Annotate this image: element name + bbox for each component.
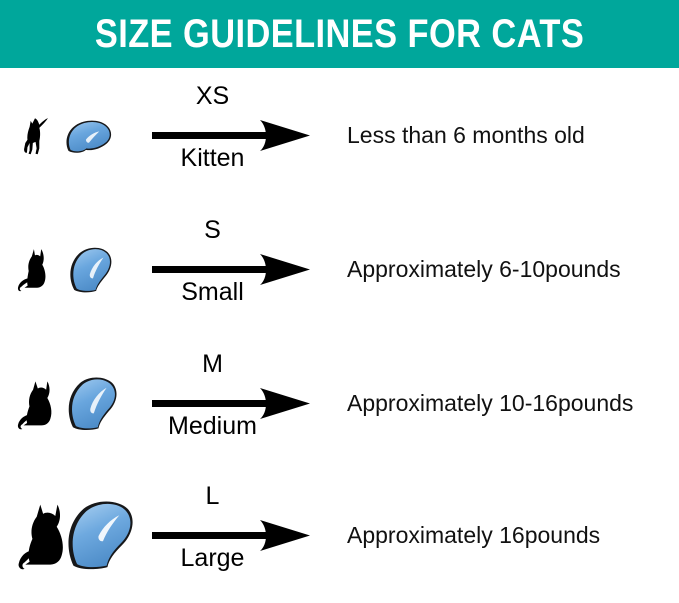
size-guidelines-list: XS Kitten Less than 6 months old <box>0 68 679 599</box>
size-code-l: L <box>145 483 280 511</box>
size-name-m: Medium <box>145 413 280 441</box>
size-name-xs: Kitten <box>145 145 280 173</box>
nail-cap-icon <box>62 117 114 155</box>
icon-cell-l <box>0 468 140 603</box>
description-xs: Less than 6 months old <box>325 122 679 149</box>
icon-cell-xs <box>0 68 140 203</box>
arrow-cell-l: L Large <box>140 481 325 591</box>
arrow-cell-xs: XS Kitten <box>140 81 325 191</box>
cat-standing-icon <box>18 115 52 157</box>
size-name-s: Small <box>145 279 280 307</box>
size-code-m: M <box>145 351 280 379</box>
size-name-l: Large <box>145 545 280 573</box>
description-l: Approximately 16pounds <box>325 522 679 549</box>
size-row-s: S Small Approximately 6-10pounds <box>0 202 679 337</box>
arrow-cell-m: M Medium <box>140 349 325 459</box>
nail-cap-icon <box>66 375 124 433</box>
cat-sitting-icon <box>14 377 64 431</box>
size-code-xs: XS <box>145 83 280 111</box>
icon-cell-s <box>0 202 140 337</box>
icon-cell-m <box>0 336 140 471</box>
size-row-xs: XS Kitten Less than 6 months old <box>0 68 679 203</box>
size-row-m: M Medium Approximately 10-16pounds <box>0 336 679 471</box>
header-banner: SIZE GUIDELINES FOR CATS <box>0 0 679 68</box>
page-title: SIZE GUIDELINES FOR CATS <box>95 14 584 54</box>
size-code-s: S <box>145 217 280 245</box>
arrow-cell-s: S Small <box>140 215 325 325</box>
nail-cap-icon <box>66 500 140 572</box>
size-row-l: L Large Approximately 16pounds <box>0 468 679 603</box>
cat-sitting-icon <box>14 247 58 293</box>
nail-cap-icon <box>66 246 120 294</box>
description-m: Approximately 10-16pounds <box>325 390 679 417</box>
description-s: Approximately 6-10pounds <box>325 256 679 283</box>
